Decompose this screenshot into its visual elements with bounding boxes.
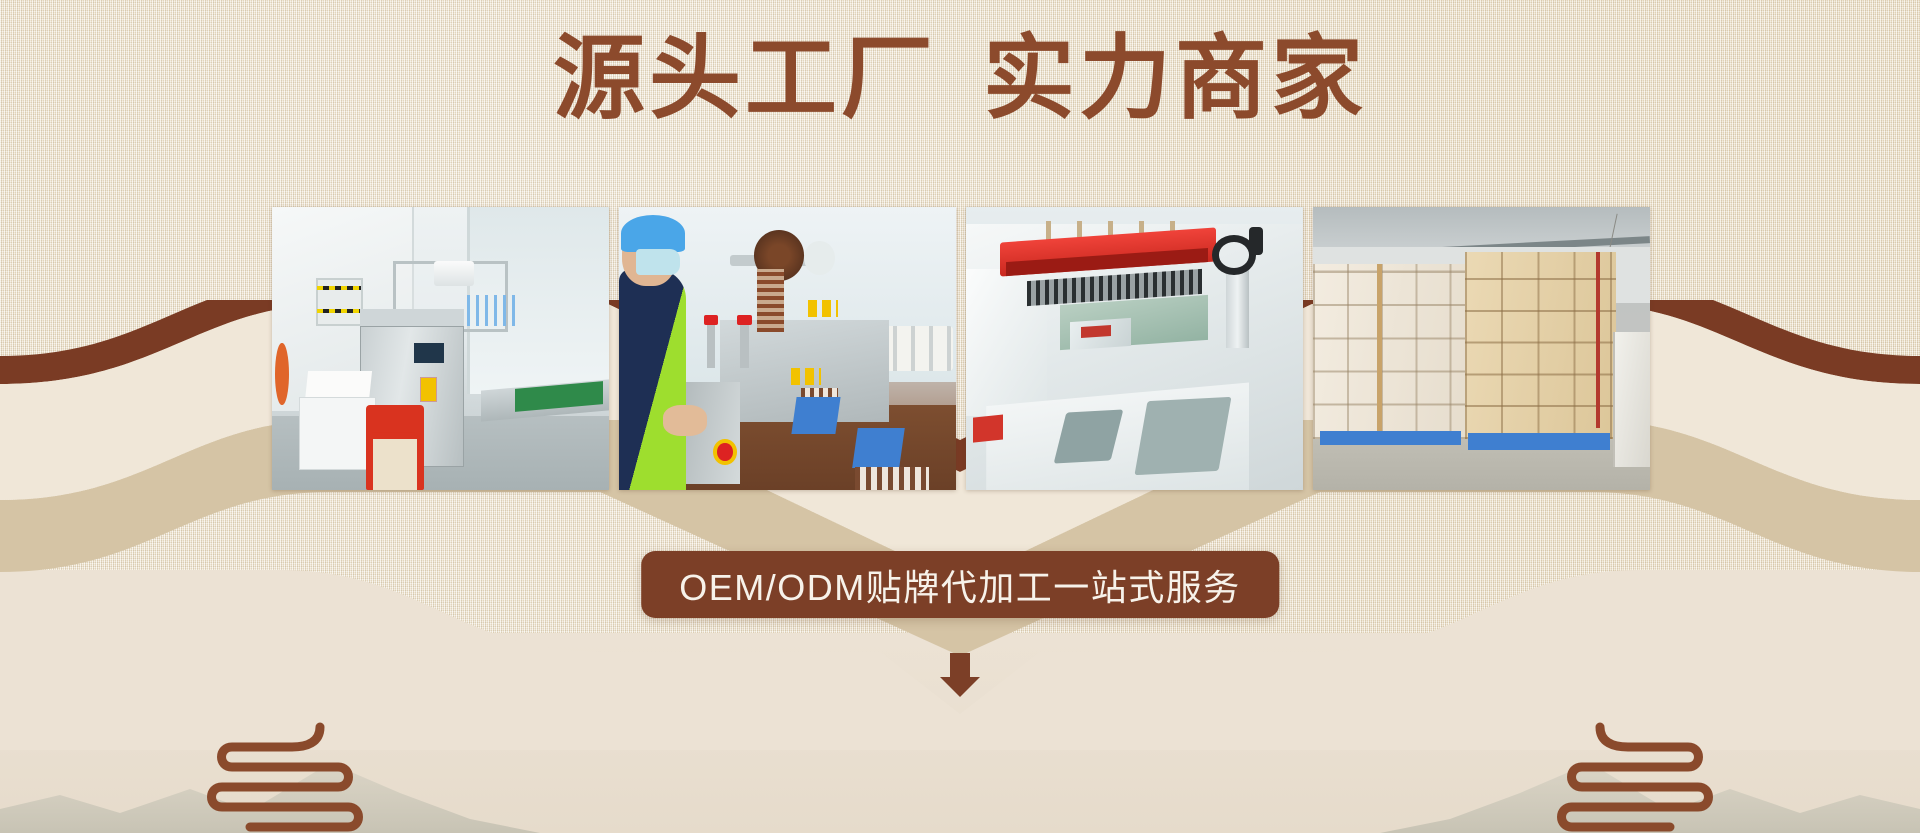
factory-photo-strip xyxy=(272,207,1650,490)
oem-odm-service-badge[interactable]: OEM/ODM贴牌代加工一站式服务 xyxy=(641,551,1279,618)
cloud-scroll-ornament-left xyxy=(188,713,448,833)
arrow-down-icon xyxy=(939,653,981,697)
title-part-2: 实力商家 xyxy=(983,28,1367,131)
oem-odm-service-label: OEM/ODM贴牌代加工一站式服务 xyxy=(679,559,1241,611)
photo-sealing-machine[interactable] xyxy=(966,207,1303,490)
factory-strength-banner: 源头工厂实力商家 xyxy=(0,0,1920,833)
title-part-1: 源头工厂 xyxy=(553,28,937,131)
banner-title: 源头工厂实力商家 xyxy=(0,28,1920,131)
cloud-scroll-ornament-right xyxy=(1472,713,1732,833)
photo-warehouse-boxes[interactable] xyxy=(1313,207,1650,490)
photo-filling-machine[interactable] xyxy=(272,207,609,490)
photo-blister-packing[interactable] xyxy=(619,207,956,490)
